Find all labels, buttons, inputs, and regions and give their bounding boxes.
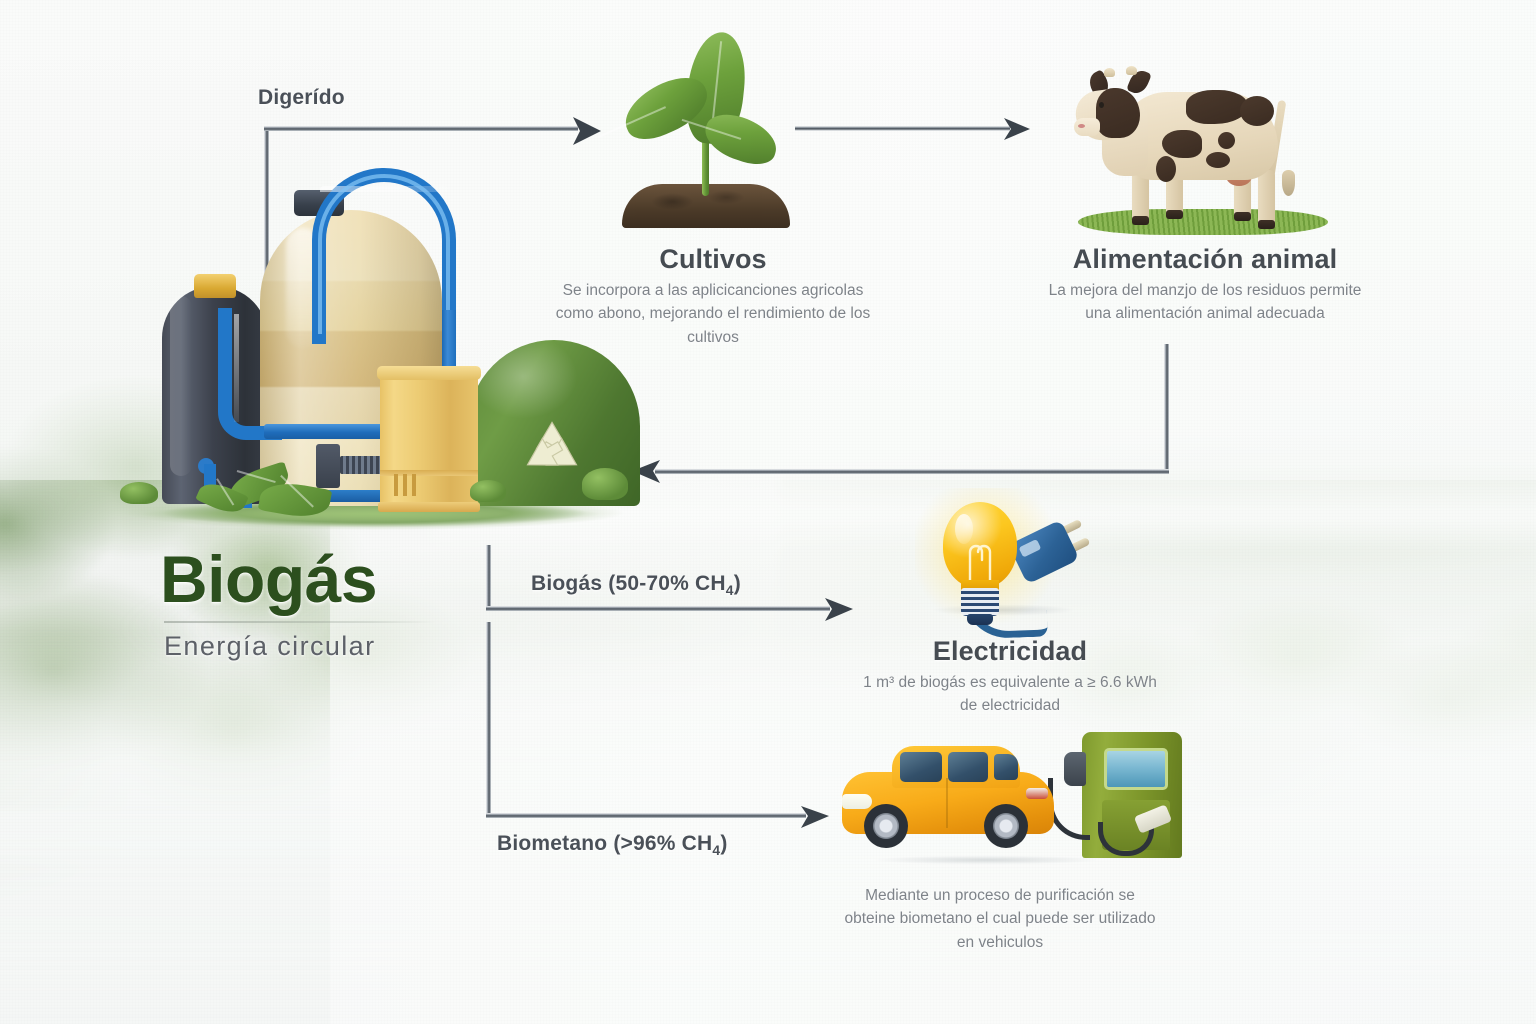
cow-horn — [1104, 68, 1115, 77]
edge-label-biometano-suffix: ) — [720, 832, 727, 855]
recycle-icon — [514, 420, 590, 486]
page-title: Biogás — [160, 548, 440, 611]
cow-spot — [1240, 96, 1274, 126]
cow-hoof — [1234, 212, 1251, 221]
node-electricidad-title: Electricidad — [860, 636, 1160, 667]
cow-leg — [1258, 170, 1275, 226]
background-mist-bottom — [0, 810, 1536, 1024]
blue-pipe-arc-highlight — [318, 174, 450, 334]
bulb-filament — [957, 532, 1003, 584]
car-window-quarter — [994, 754, 1018, 780]
brand-lockup: Biogás Energía circular — [160, 548, 440, 662]
fuel-nozzle — [1064, 752, 1086, 786]
biogas-plant-icon — [112, 168, 652, 538]
cow-icon — [1058, 44, 1348, 239]
car-door-line — [946, 778, 948, 828]
car-window-front — [900, 752, 942, 782]
seedling-icon — [600, 26, 810, 236]
heat-exchanger-fins — [340, 456, 384, 474]
unit-vents — [394, 474, 418, 496]
cow-spot — [1218, 132, 1235, 149]
edge-label-biogas-subscript: 4 — [726, 582, 734, 598]
cow-horn — [1126, 66, 1137, 75]
control-box — [316, 444, 340, 488]
edge-label-biometano-text: Biometano (>96% CH — [497, 832, 712, 855]
cow-eye — [1099, 102, 1104, 108]
arrow-cultivos-to-cow — [795, 118, 1030, 140]
car-taillight — [1026, 788, 1048, 799]
bulb-base-cap — [967, 614, 993, 625]
decorative-bush — [120, 482, 158, 504]
plant-ground-highlight — [140, 504, 600, 524]
bulb-screw-base — [961, 588, 999, 616]
node-alimentacion-description: La mejora del manzjo de los residuos per… — [1040, 279, 1370, 326]
node-cultivos: Cultivos Se incorpora a las aplicicancio… — [548, 244, 878, 349]
fuel-pump-display — [1104, 748, 1168, 790]
tank-gold-cap — [194, 274, 236, 298]
edge-label-digerido: Digerído — [258, 86, 345, 110]
page-subtitle: Energía circular — [160, 631, 440, 662]
yellow-process-unit — [380, 374, 478, 506]
brand-divider — [164, 621, 436, 623]
car-headlight — [842, 794, 872, 809]
leaf-right — [699, 108, 782, 171]
cow-tail-tip — [1282, 170, 1295, 196]
edge-label-biogas-suffix: ) — [734, 572, 741, 595]
node-vehiculos-description: Mediante un proceso de purificación se o… — [840, 884, 1160, 954]
cow-head-patch — [1096, 88, 1140, 138]
node-alimentacion-title: Alimentación animal — [1040, 244, 1370, 275]
decorative-bush — [582, 468, 628, 500]
lightbulb-plug-icon — [905, 496, 1105, 626]
edge-label-biogas: Biogás (50-70% CH4) — [531, 572, 741, 598]
car-window-rear — [948, 752, 988, 782]
cow-hoof — [1166, 210, 1183, 219]
arrow-biometano — [486, 622, 829, 828]
fuel-hose — [1048, 778, 1090, 840]
grass-patch — [1078, 209, 1328, 235]
blue-pipe-left-elbow — [218, 308, 282, 440]
node-cultivos-title: Cultivos — [548, 244, 878, 275]
car-fuelpump-icon — [836, 726, 1206, 872]
cow-nose — [1078, 124, 1085, 128]
cow-spot — [1156, 156, 1176, 182]
car-wheel-front — [864, 804, 908, 848]
unit-cap — [377, 366, 481, 380]
node-alimentacion-animal: Alimentación animal La mejora del manzjo… — [1040, 244, 1370, 326]
car-wheel-rear — [984, 804, 1028, 848]
edge-label-biometano: Biometano (>96% CH4) — [497, 832, 728, 858]
cow-spot — [1206, 152, 1230, 168]
cow-hoof — [1258, 220, 1275, 229]
edge-label-biogas-text: Biogás (50-70% CH — [531, 572, 726, 595]
cow-hoof — [1132, 216, 1149, 225]
arrow-cow-to-plant — [632, 344, 1169, 483]
decorative-bush — [470, 480, 506, 502]
node-electricidad-description: 1 m³ de biogás es equivalente a ≥ 6.6 kW… — [860, 671, 1160, 718]
cow-spot — [1162, 130, 1202, 158]
node-vehiculos: Mediante un proceso de purificación se o… — [840, 884, 1160, 954]
background-mist-lower — [0, 640, 1536, 860]
node-electricidad: Electricidad 1 m³ de biogás es equivalen… — [860, 636, 1160, 718]
node-cultivos-description: Se incorpora a las aplicicanciones agric… — [548, 279, 878, 349]
unit-foot — [378, 502, 480, 512]
infographic-canvas: Digerído Biogás (50-70% CH4) Biometano (… — [0, 0, 1536, 1024]
